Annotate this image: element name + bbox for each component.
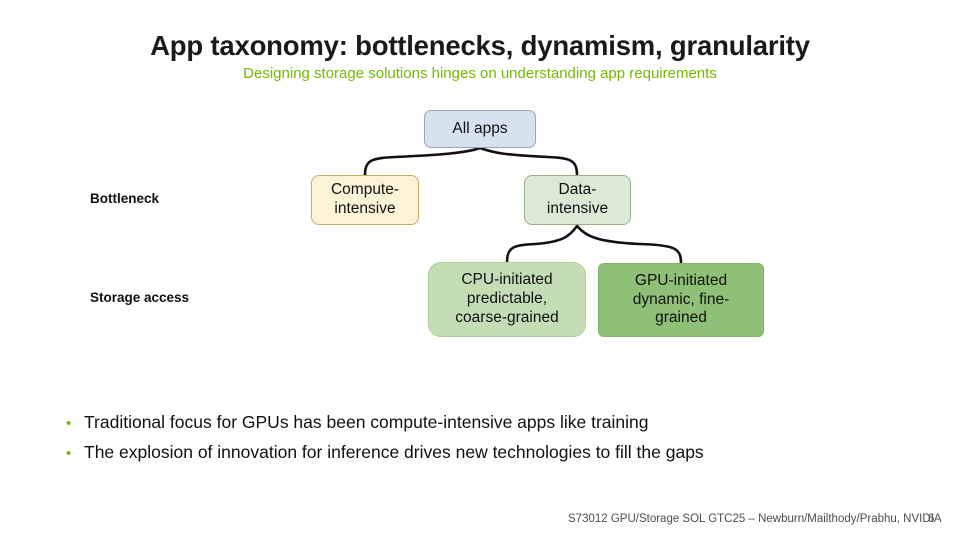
- diagram-node-data-intensive[interactable]: Data- intensive: [524, 175, 631, 225]
- diagram-node-cpu-initiated[interactable]: CPU-initiated predictable, coarse-graine…: [428, 262, 586, 337]
- bullet-text-2: The explosion of innovation for inferenc…: [84, 439, 704, 465]
- diagram-node-all-apps[interactable]: All apps: [424, 110, 536, 148]
- diagram-node-compute-intensive[interactable]: Compute- intensive: [311, 175, 419, 225]
- node-label-cpu-line1: CPU-initiated: [455, 271, 558, 290]
- bullet-text-1: Traditional focus for GPUs has been comp…: [84, 409, 649, 435]
- list-item: • Traditional focus for GPUs has been co…: [64, 409, 914, 437]
- bullet-list: • Traditional focus for GPUs has been co…: [64, 409, 914, 469]
- slide-canvas: App taxonomy: bottlenecks, dynamism, gra…: [0, 0, 960, 540]
- node-label-cpu-line3: coarse-grained: [455, 309, 558, 328]
- node-label-data-line1: Data-: [547, 181, 608, 200]
- node-label-cpu-line2: predictable,: [455, 290, 558, 309]
- node-label-compute-line1: Compute-: [331, 181, 399, 200]
- node-label-compute-line2: intensive: [331, 200, 399, 219]
- node-label-data-line2: intensive: [547, 200, 608, 219]
- node-label-all-apps: All apps: [452, 120, 507, 139]
- footer-page-number: 6: [928, 513, 934, 525]
- node-label-gpu-line2: dynamic, fine-: [633, 291, 729, 310]
- taxonomy-diagram: All apps Compute- intensive Data- intens…: [0, 0, 960, 360]
- bullet-marker-icon: •: [64, 441, 84, 467]
- node-label-gpu-line1: GPU-initiated: [633, 272, 729, 291]
- footer-attribution: S73012 GPU/Storage SOL GTC25 – Newburn/M…: [568, 513, 942, 525]
- diagram-node-gpu-initiated[interactable]: GPU-initiated dynamic, fine- grained: [598, 263, 764, 337]
- bullet-marker-icon: •: [64, 411, 84, 437]
- node-label-gpu-line3: grained: [633, 309, 729, 328]
- list-item: • The explosion of innovation for infere…: [64, 439, 914, 467]
